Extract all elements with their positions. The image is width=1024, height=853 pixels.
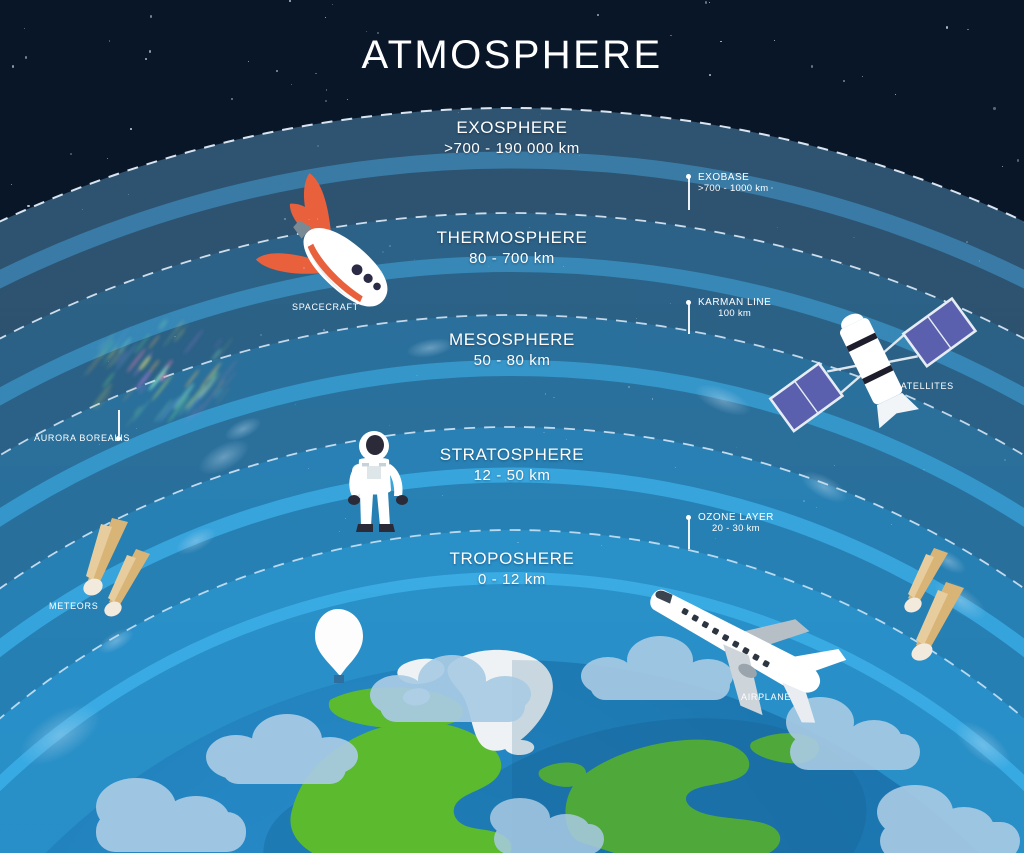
star-icon bbox=[458, 112, 459, 113]
caption-airplane: AIRPLANE bbox=[741, 692, 791, 702]
star-icon bbox=[326, 89, 327, 90]
star-icon bbox=[82, 209, 83, 210]
aurora-streak bbox=[122, 386, 136, 403]
aurora-streak bbox=[183, 328, 205, 355]
layer-range-troposphere: 0 - 12 km bbox=[352, 570, 672, 589]
callout-stem bbox=[688, 519, 690, 549]
callout-value-exobase: >700 - 1000 km bbox=[698, 183, 768, 194]
star-icon bbox=[993, 107, 996, 110]
star-icon bbox=[895, 94, 896, 95]
layer-range-exosphere: >700 - 190 000 km bbox=[352, 139, 672, 158]
star-icon bbox=[771, 187, 773, 189]
star-icon bbox=[260, 334, 262, 336]
star-icon bbox=[150, 15, 152, 17]
star-icon bbox=[11, 184, 12, 185]
layer-label-stratosphere: STRATOSPHERE 12 - 50 km bbox=[352, 444, 672, 485]
aurora-streak bbox=[148, 359, 160, 373]
layer-name-stratosphere: STRATOSPHERE bbox=[352, 444, 672, 466]
star-icon bbox=[979, 260, 981, 262]
star-icon bbox=[345, 518, 346, 519]
caption-spacecraft: SPACECRAFT bbox=[292, 302, 359, 312]
star-icon bbox=[130, 128, 132, 130]
star-icon bbox=[366, 31, 367, 32]
star-icon bbox=[636, 318, 637, 319]
callout-name-exobase: EXOBASE bbox=[698, 172, 768, 183]
layer-range-thermosphere: 80 - 700 km bbox=[352, 249, 672, 268]
star-icon bbox=[670, 303, 671, 304]
layer-range-stratosphere: 12 - 50 km bbox=[352, 466, 672, 485]
layer-name-thermosphere: THERMOSPHERE bbox=[352, 227, 672, 249]
star-icon bbox=[652, 398, 653, 399]
star-icon bbox=[389, 425, 390, 426]
star-icon bbox=[803, 500, 805, 502]
star-icon bbox=[777, 227, 778, 228]
star-icon bbox=[1004, 459, 1006, 461]
caption-meteors: METEORS bbox=[49, 601, 98, 611]
layer-label-troposphere: TROPOSHERE 0 - 12 km bbox=[352, 548, 672, 589]
star-icon bbox=[967, 29, 969, 31]
callout-value-ozone-layer: 20 - 30 km bbox=[698, 523, 774, 534]
atmosphere-infographic: ATMOSPHERE EXOSPHERE >700 - 190 000 km T… bbox=[0, 0, 1024, 853]
star-icon bbox=[628, 386, 630, 388]
layer-label-mesosphere: MESOSPHERE 50 - 80 km bbox=[352, 329, 672, 370]
star-icon bbox=[289, 0, 291, 2]
star-icon bbox=[891, 524, 892, 525]
callout-marker-dot bbox=[116, 436, 121, 441]
callout-stem bbox=[118, 410, 120, 436]
star-icon bbox=[347, 99, 348, 100]
star-icon bbox=[853, 237, 855, 239]
star-icon bbox=[442, 495, 443, 496]
star-icon bbox=[303, 267, 305, 269]
layer-label-thermosphere: THERMOSPHERE 80 - 700 km bbox=[352, 227, 672, 268]
callout-value-karman-line: 100 km bbox=[698, 308, 771, 319]
layer-name-mesosphere: MESOSPHERE bbox=[352, 329, 672, 351]
layer-name-exosphere: EXOSPHERE bbox=[352, 117, 672, 139]
star-icon bbox=[834, 465, 835, 466]
star-icon bbox=[295, 404, 297, 406]
star-icon bbox=[816, 507, 817, 508]
star-icon bbox=[339, 531, 340, 532]
star-icon bbox=[966, 241, 968, 243]
star-icon bbox=[553, 397, 555, 399]
layer-range-mesosphere: 50 - 80 km bbox=[352, 351, 672, 370]
callout-stem bbox=[688, 178, 690, 210]
star-icon bbox=[601, 545, 602, 546]
aurora-borealis-illustration bbox=[82, 300, 242, 430]
star-icon bbox=[70, 153, 72, 155]
callout-name-ozone-layer: OZONE LAYER bbox=[698, 512, 774, 523]
layer-name-troposphere: TROPOSHERE bbox=[352, 548, 672, 570]
star-icon bbox=[306, 233, 307, 234]
star-icon bbox=[540, 114, 541, 115]
star-icon bbox=[736, 447, 737, 448]
star-icon bbox=[99, 444, 100, 445]
aurora-streak bbox=[124, 405, 144, 429]
page-title: ATMOSPHERE bbox=[0, 33, 1024, 78]
aurora-streak bbox=[147, 334, 160, 349]
caption-satellites: SATELLITES bbox=[894, 381, 954, 391]
callout-name-karman-line: KARMAN LINE bbox=[698, 297, 771, 308]
layer-label-exosphere: EXOSPHERE >700 - 190 000 km bbox=[352, 117, 672, 158]
star-icon bbox=[946, 26, 948, 28]
callout-stem bbox=[688, 304, 690, 334]
